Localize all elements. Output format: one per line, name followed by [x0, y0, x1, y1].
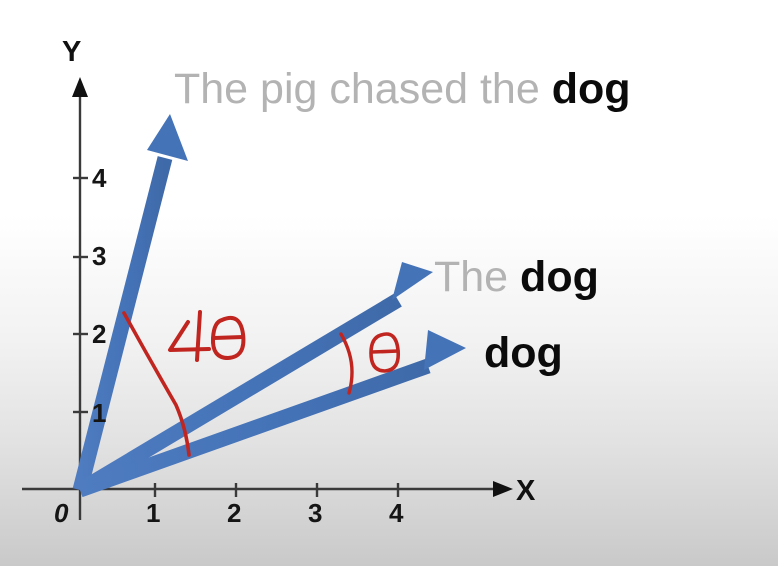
x-tick-label-1: 1 — [146, 500, 160, 526]
angle-arc-theta — [341, 334, 352, 393]
x-axis-arrowhead — [493, 481, 513, 497]
vector-dog — [80, 330, 466, 490]
caption-top-black: dog — [552, 65, 631, 113]
angle-label-4theta — [170, 312, 243, 360]
x-axis-label: X — [516, 477, 535, 506]
y-axis-label: Y — [62, 38, 81, 67]
y-tick-label-2: 2 — [92, 321, 106, 347]
vector-3-arrowhead — [424, 330, 466, 370]
x-tick-label-0: 0 — [54, 500, 68, 526]
slide-canvas: The pig chased the dog The dog dog Y X 0… — [0, 0, 778, 566]
caption-top-gray: The pig chased the — [174, 65, 552, 113]
caption-bot-black: dog — [484, 329, 563, 377]
caption-mid-black: dog — [520, 253, 599, 301]
x-tick-label-3: 3 — [308, 500, 322, 526]
x-tick-label-4: 4 — [389, 500, 403, 526]
vector-1-arrowhead — [147, 114, 188, 161]
y-tick-label-3: 3 — [92, 243, 106, 269]
caption-the-pig-chased-the-dog: The pig chased the dog — [174, 68, 631, 111]
y-tick-label-4: 4 — [92, 165, 106, 191]
caption-dog: dog — [484, 332, 563, 375]
y-tick-label-1: 1 — [92, 400, 106, 426]
angle-label-theta — [371, 334, 398, 371]
caption-the-dog: The dog — [434, 256, 599, 299]
y-axis-arrowhead — [72, 77, 88, 97]
caption-mid-gray: The — [434, 253, 520, 301]
vector-2-arrowhead — [392, 262, 433, 300]
x-tick-label-2: 2 — [227, 500, 241, 526]
